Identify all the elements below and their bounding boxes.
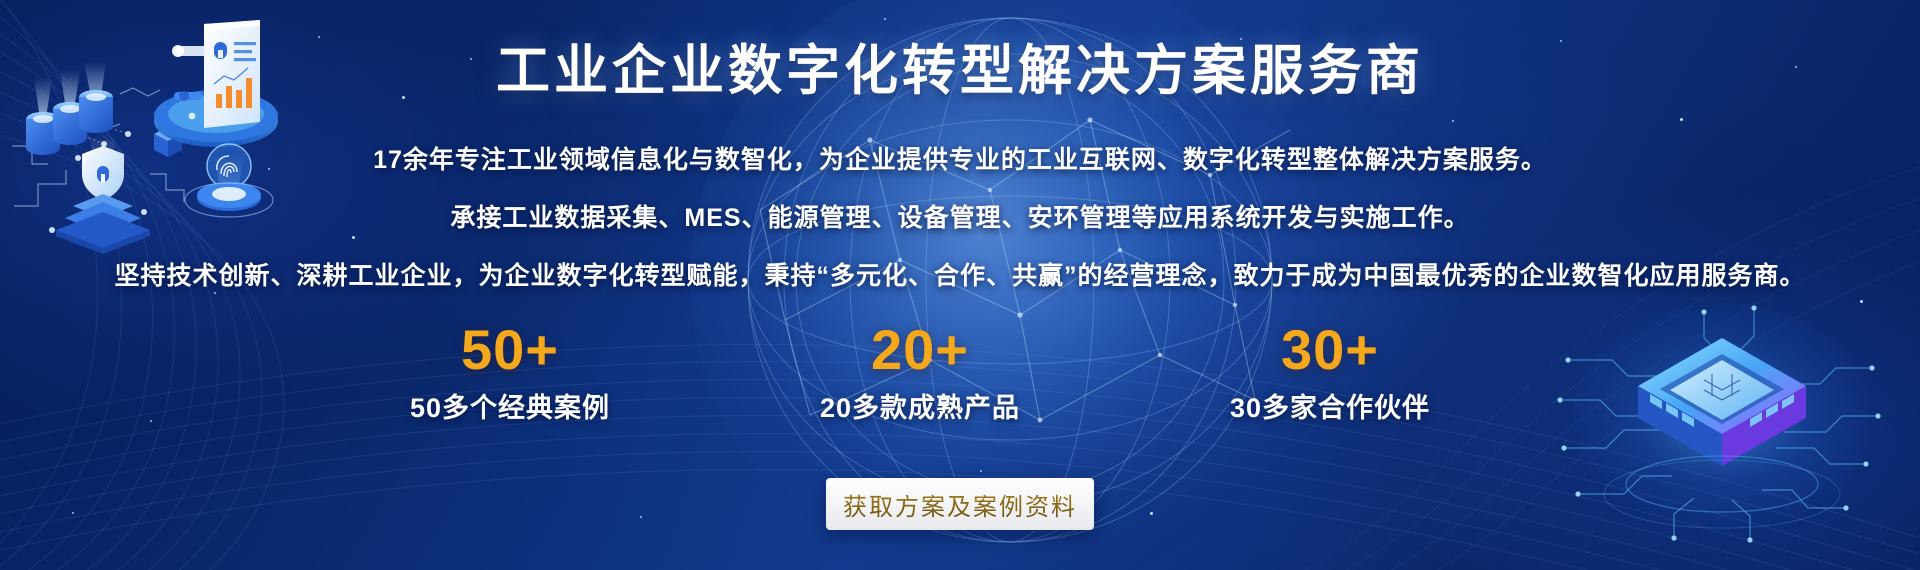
- promo-banner: 工业企业数字化转型解决方案服务商 17余年专注工业领域信息化与数智化，为企业提供…: [0, 0, 1920, 570]
- stat-label: 20多款成熟产品: [770, 386, 1070, 425]
- subtitle-line-1: 17余年专注工业领域信息化与数智化，为企业提供专业的工业互联网、数字化转型整体解…: [0, 140, 1920, 176]
- stat-label: 30多家合作伙伴: [1180, 386, 1480, 425]
- banner-content: 工业企业数字化转型解决方案服务商 17余年专注工业领域信息化与数智化，为企业提供…: [0, 0, 1920, 570]
- stat-number: 20+: [770, 320, 1070, 380]
- stat-label: 50多个经典案例: [360, 386, 660, 425]
- page-title: 工业企业数字化转型解决方案服务商: [0, 40, 1920, 102]
- subtitle-line-2: 承接工业数据采集、MES、能源管理、设备管理、安环管理等应用系统开发与实施工作。: [0, 198, 1920, 234]
- stat-item-cases: 50+ 50多个经典案例: [360, 320, 660, 425]
- get-materials-button[interactable]: 获取方案及案例资料: [826, 478, 1094, 530]
- stat-item-partners: 30+ 30多家合作伙伴: [1180, 320, 1480, 425]
- stat-number: 30+: [1180, 320, 1480, 380]
- stat-number: 50+: [360, 320, 660, 380]
- stats-row: 50+ 50多个经典案例 20+ 20多款成熟产品 30+ 30多家合作伙伴: [360, 320, 1480, 425]
- subtitle-line-3: 坚持技术创新、深耕工业企业，为企业数字化转型赋能，秉持“多元化、合作、共赢”的经…: [0, 256, 1920, 292]
- get-materials-button-label: 获取方案及案例资料: [843, 487, 1077, 522]
- stat-item-products: 20+ 20多款成熟产品: [770, 320, 1070, 425]
